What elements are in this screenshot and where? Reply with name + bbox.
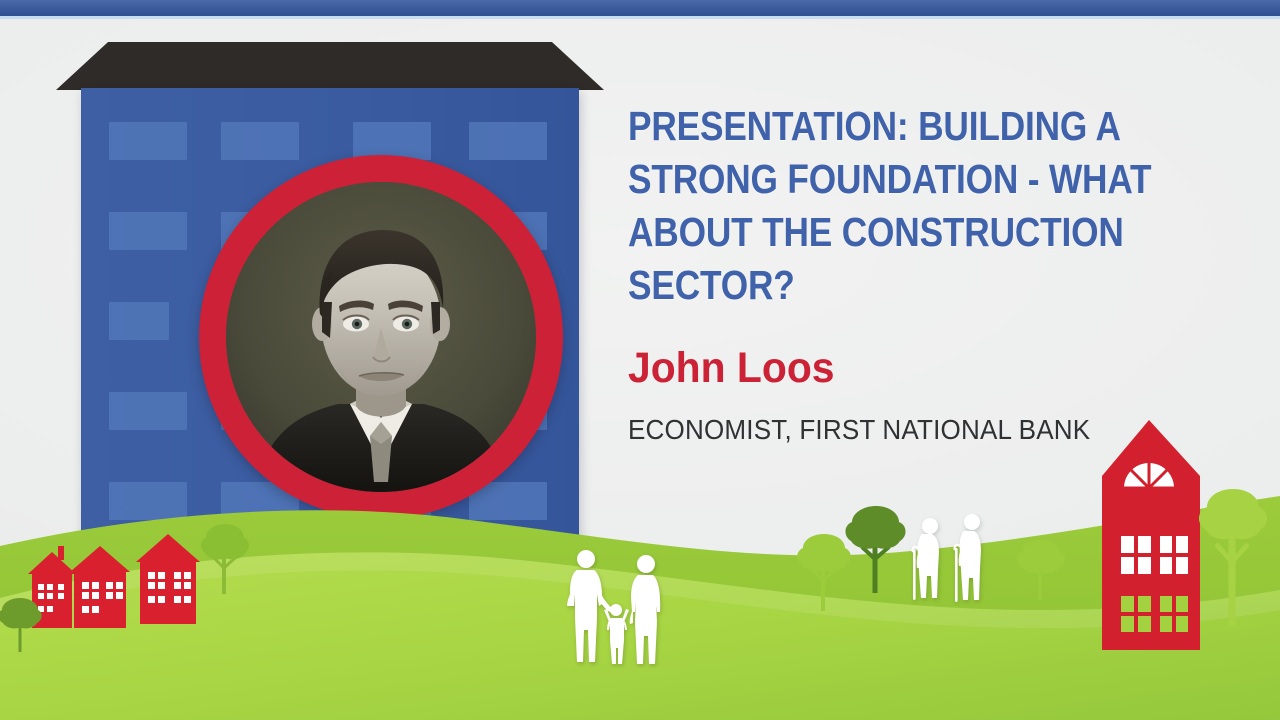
building-window [109, 392, 187, 430]
slide-text-column: PRESENTATION: BUILDING A STRONG FOUNDATI… [628, 100, 1253, 446]
speaker-portrait-photo [226, 182, 536, 492]
elderly-figure [959, 514, 981, 600]
presentation-title-slide: PRESENTATION: BUILDING A STRONG FOUNDATI… [0, 0, 1280, 720]
elderly-figure-group [908, 514, 994, 606]
walking-cane [913, 550, 916, 600]
building-window [109, 212, 187, 250]
tree [0, 592, 52, 654]
walking-cane [955, 548, 958, 602]
speaker-name: John Loos [628, 344, 1222, 392]
top-bar-hairline [0, 16, 1280, 19]
building-window [109, 302, 169, 340]
tree [786, 531, 862, 613]
building-window [469, 122, 547, 160]
small-house [70, 546, 130, 628]
child-figure [604, 604, 629, 664]
tree [190, 522, 260, 596]
video-player-top-bar [0, 0, 1280, 16]
building-window [353, 122, 431, 160]
adult-figure [630, 555, 660, 664]
building-roof [56, 42, 604, 90]
page-title: PRESENTATION: BUILDING A STRONG FOUNDATI… [628, 100, 1247, 312]
building-window [221, 122, 299, 160]
tree [1186, 486, 1280, 628]
elderly-figure [917, 518, 939, 598]
speaker-role: ECONOMIST, FIRST NATIONAL BANK [628, 414, 1205, 446]
adult-figure [567, 550, 612, 662]
family-figure-group [564, 548, 666, 668]
building-window [109, 122, 187, 160]
tree [1010, 536, 1074, 602]
